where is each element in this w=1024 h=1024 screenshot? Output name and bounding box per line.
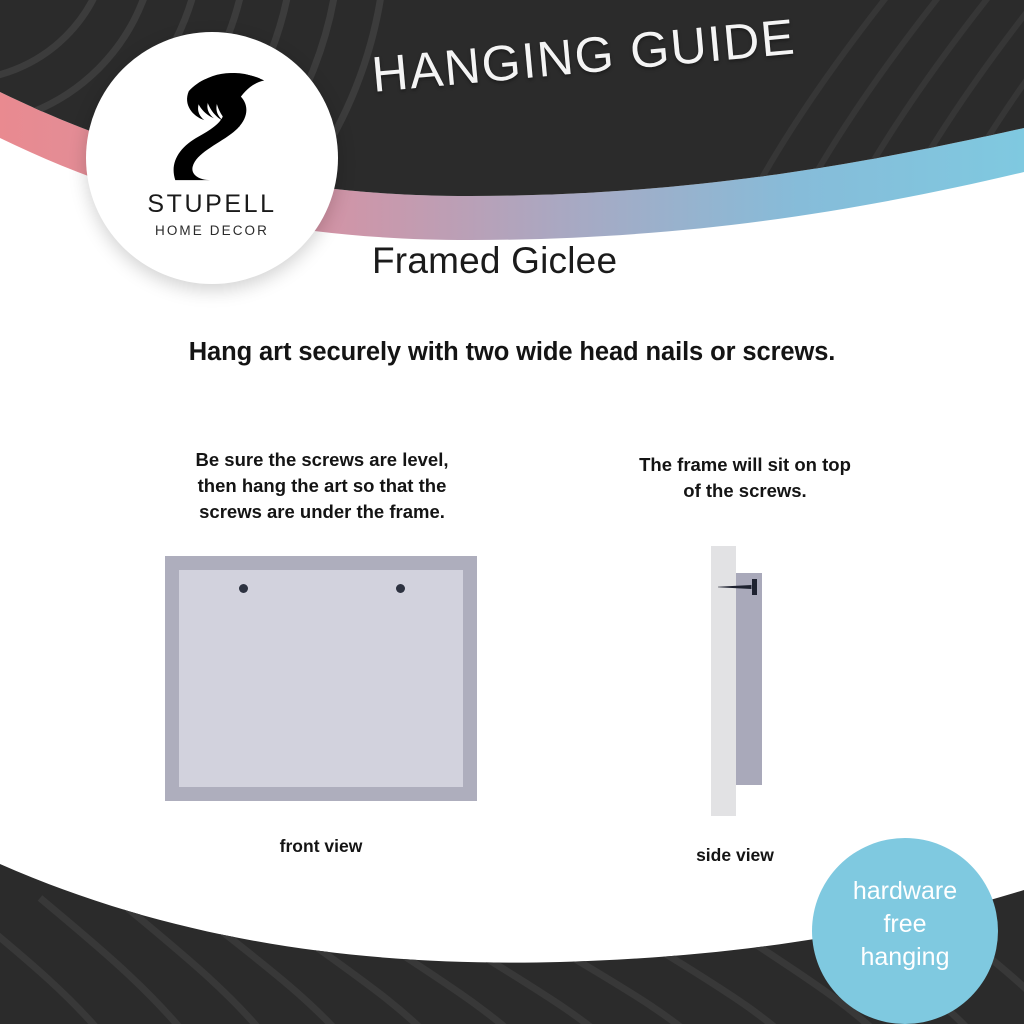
product-type-label: Framed Giclee — [372, 240, 617, 282]
side-view-caption: The frame will sit on top of the screws. — [600, 452, 890, 504]
side-view-frame — [736, 573, 762, 785]
hardware-free-hanging-badge: hardware free hanging — [812, 838, 998, 1024]
front-view-label: front view — [171, 836, 471, 857]
front-view-caption-line1: Be sure the screws are level, — [152, 447, 492, 473]
badge-line1: hardware — [853, 875, 957, 908]
front-view-caption-line3: screws are under the frame. — [152, 499, 492, 525]
front-view-artwork-area — [179, 570, 463, 787]
badge-line2: free — [883, 908, 926, 941]
badge-line3: hanging — [861, 941, 950, 974]
stupell-swoosh-icon — [154, 66, 270, 184]
logo-tagline: HOME DECOR — [155, 223, 269, 238]
front-view-frame-diagram — [165, 556, 477, 801]
brand-logo-badge: STUPELL HOME DECOR — [86, 32, 338, 284]
side-view-label: side view — [640, 845, 830, 866]
front-view-screw-right — [396, 584, 405, 593]
side-view-caption-line2: of the screws. — [600, 478, 890, 504]
main-instruction-text: Hang art securely with two wide head nai… — [0, 338, 1024, 367]
front-view-screw-left — [239, 584, 248, 593]
front-view-caption-line2: then hang the art so that the — [152, 473, 492, 499]
logo-wordmark: STUPELL — [147, 190, 276, 219]
hanging-guide-canvas: STUPELL HOME DECOR HANGING GUIDE Framed … — [0, 0, 1024, 1024]
front-view-caption: Be sure the screws are level, then hang … — [152, 447, 492, 525]
side-view-nail-head-icon — [752, 579, 757, 595]
side-view-caption-line1: The frame will sit on top — [600, 452, 890, 478]
